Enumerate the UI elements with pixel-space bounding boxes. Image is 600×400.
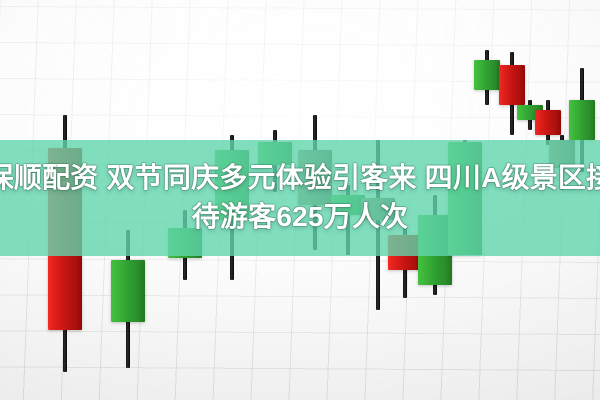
mint-overlay-band [0,140,600,256]
candle-body-2 [111,260,145,322]
candle-body-12 [474,60,500,90]
stock-banner-image: 保顺配资 双节同庆多元体验引客来 四川A级景区接 待游客625万人次 [0,0,600,400]
candle-body-17 [569,100,595,140]
